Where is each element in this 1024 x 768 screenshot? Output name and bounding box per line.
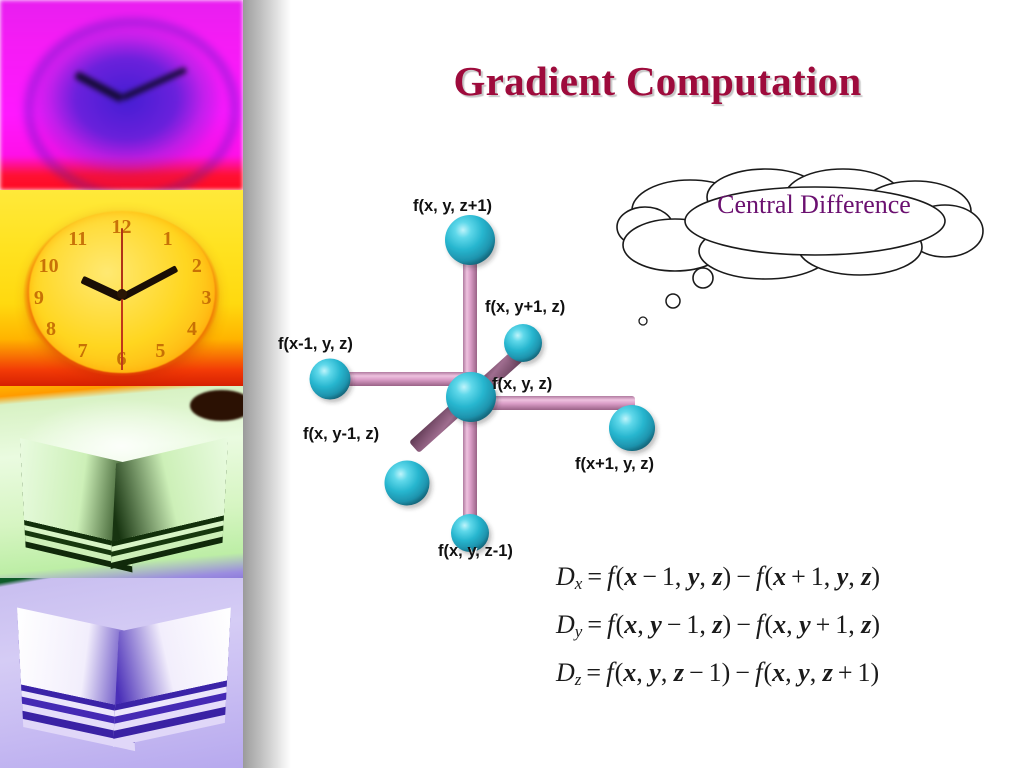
equation-block: Dx=f(x−1, y, z)−f(x+1, y, z) Dy=f(x, y−1… <box>556 552 1016 696</box>
clock-numeral: 5 <box>155 341 165 361</box>
clock-numeral: 11 <box>68 229 87 249</box>
sidebar-image-green-open-book <box>0 386 243 578</box>
book-green-illustration <box>0 386 243 578</box>
clock-numeral: 1 <box>163 229 173 249</box>
clock-numeral: 10 <box>39 256 59 276</box>
clock-second-hand-upper <box>121 228 123 294</box>
clock-numeral: 3 <box>202 288 212 308</box>
book-top-shadow <box>190 390 243 421</box>
clock-center-pin <box>117 289 127 299</box>
clock-magenta-illustration <box>0 0 243 190</box>
papers-purple-illustration <box>0 578 243 768</box>
clock-numeral: 8 <box>46 319 56 339</box>
node-center <box>446 372 496 422</box>
slide-canvas: 12 1 2 3 4 5 6 7 8 9 10 11 <box>0 0 1024 768</box>
node-y-minus-1 <box>385 461 430 506</box>
sidebar-image-sharp-yellow-clock: 12 1 2 3 4 5 6 7 8 9 10 11 <box>0 190 243 386</box>
equation-dz: Dz=f(x, y, z−1)−f(x, y, z+1) <box>556 648 1016 696</box>
clock-second-hand-lower <box>121 294 123 370</box>
equation-dz-lhs: D <box>556 658 575 687</box>
stencil-label-z-plus-1: f(x, y, z+1) <box>413 197 492 216</box>
thought-bubble: Central Difference <box>615 165 1005 350</box>
bubble-trail-small <box>639 317 647 325</box>
stencil-label-x-minus-1: f(x-1, y, z) <box>278 335 353 354</box>
node-y-plus-1 <box>504 324 542 362</box>
equation-dx-lhs: D <box>556 562 575 591</box>
bubble-trail-large <box>693 268 713 288</box>
node-z-plus-1 <box>445 215 495 265</box>
clock-yellow-illustration: 12 1 2 3 4 5 6 7 8 9 10 11 <box>0 190 243 386</box>
stencil-label-y-minus-1: f(x, y-1, z) <box>303 425 379 444</box>
clock-bezel <box>24 17 240 190</box>
paper-right-stack <box>115 607 230 704</box>
page-title: Gradient Computation <box>291 57 1024 105</box>
sidebar-image-blurred-magenta-clock <box>0 0 243 190</box>
sidebar-image-purple-paper-stack <box>0 578 243 768</box>
clock-numeral: 2 <box>192 256 202 276</box>
stencil-label-y-plus-1: f(x, y+1, z) <box>485 298 565 317</box>
stencil-label-z-minus-1: f(x, y, z-1) <box>438 542 513 561</box>
thought-bubble-text: Central Difference <box>659 190 969 220</box>
bubble-trail-medium <box>666 294 680 308</box>
node-x-plus-1 <box>609 405 655 451</box>
stencil-label-x-plus-1: f(x+1, y, z) <box>575 455 654 474</box>
clock-numeral: 9 <box>34 288 44 308</box>
clock-numeral: 4 <box>187 319 197 339</box>
node-x-minus-1 <box>310 359 351 400</box>
stencil-label-center: f(x, y, z) <box>492 375 552 394</box>
equation-dy: Dy=f(x, y−1, z)−f(x, y+1, z) <box>556 600 1016 648</box>
equation-dy-lhs: D <box>556 610 575 639</box>
clock-numeral: 7 <box>78 341 88 361</box>
equation-dx: Dx=f(x−1, y, z)−f(x+1, y, z) <box>556 552 1016 600</box>
sidebar-image-strip: 12 1 2 3 4 5 6 7 8 9 10 11 <box>0 0 243 768</box>
